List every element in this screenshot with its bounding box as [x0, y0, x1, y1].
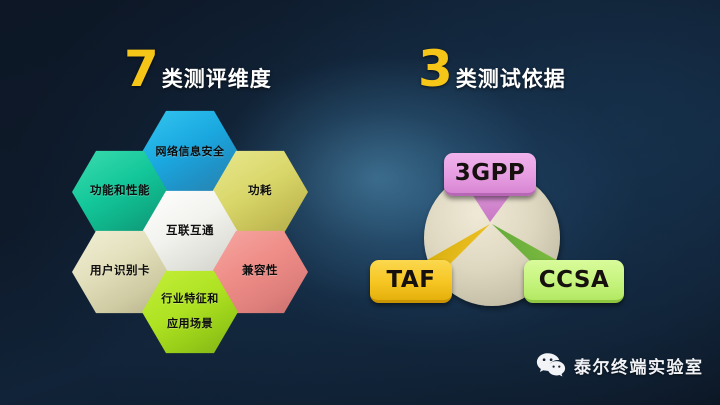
hexagon-label: 互联互通	[160, 225, 220, 238]
hexagon-label: 兼容性	[236, 265, 284, 278]
right-title-number: 3	[418, 44, 452, 94]
hexagon-label-line2: 应用场景	[155, 318, 225, 331]
label-ccsa[interactable]: CCSA	[524, 260, 624, 303]
label-taf-text: TAF	[387, 267, 436, 293]
left-title-text: 类测评维度	[162, 63, 272, 93]
hexagon-label: 网络信息安全	[150, 146, 231, 159]
hexagon-label: 行业特征和 应用场景	[149, 293, 231, 331]
label-taf[interactable]: TAF	[370, 260, 452, 303]
right-section-title: 3 类测试依据	[418, 44, 566, 94]
slide-canvas: 7 类测评维度 3 类测试依据 网络信息安全 功能和性能 功耗 互联互通 用户识…	[0, 0, 720, 405]
right-title-text: 类测试依据	[456, 63, 566, 93]
wechat-icon-svg	[536, 352, 566, 378]
left-title-number: 7	[124, 44, 158, 94]
label-3gpp[interactable]: 3GPP	[444, 153, 536, 196]
watermark-text: 泰尔终端实验室	[574, 353, 704, 378]
left-section-title: 7 类测评维度	[124, 44, 272, 94]
watermark: 泰尔终端实验室	[536, 352, 704, 378]
label-ccsa-text: CCSA	[539, 267, 610, 293]
hexagon-label: 功能和性能	[84, 185, 156, 198]
wechat-icon	[536, 352, 566, 378]
hexagon-label: 功耗	[242, 185, 278, 198]
standards-wedge-diagram: 3GPP TAF CCSA	[392, 150, 612, 340]
label-3gpp-text: 3GPP	[455, 160, 526, 186]
hexagon-label: 用户识别卡	[84, 265, 156, 278]
hexagon-cluster: 网络信息安全 功能和性能 功耗 互联互通 用户识别卡 兼容性 行业特征和 应用场…	[60, 108, 330, 353]
hexagon-label-line1: 行业特征和	[155, 293, 225, 306]
